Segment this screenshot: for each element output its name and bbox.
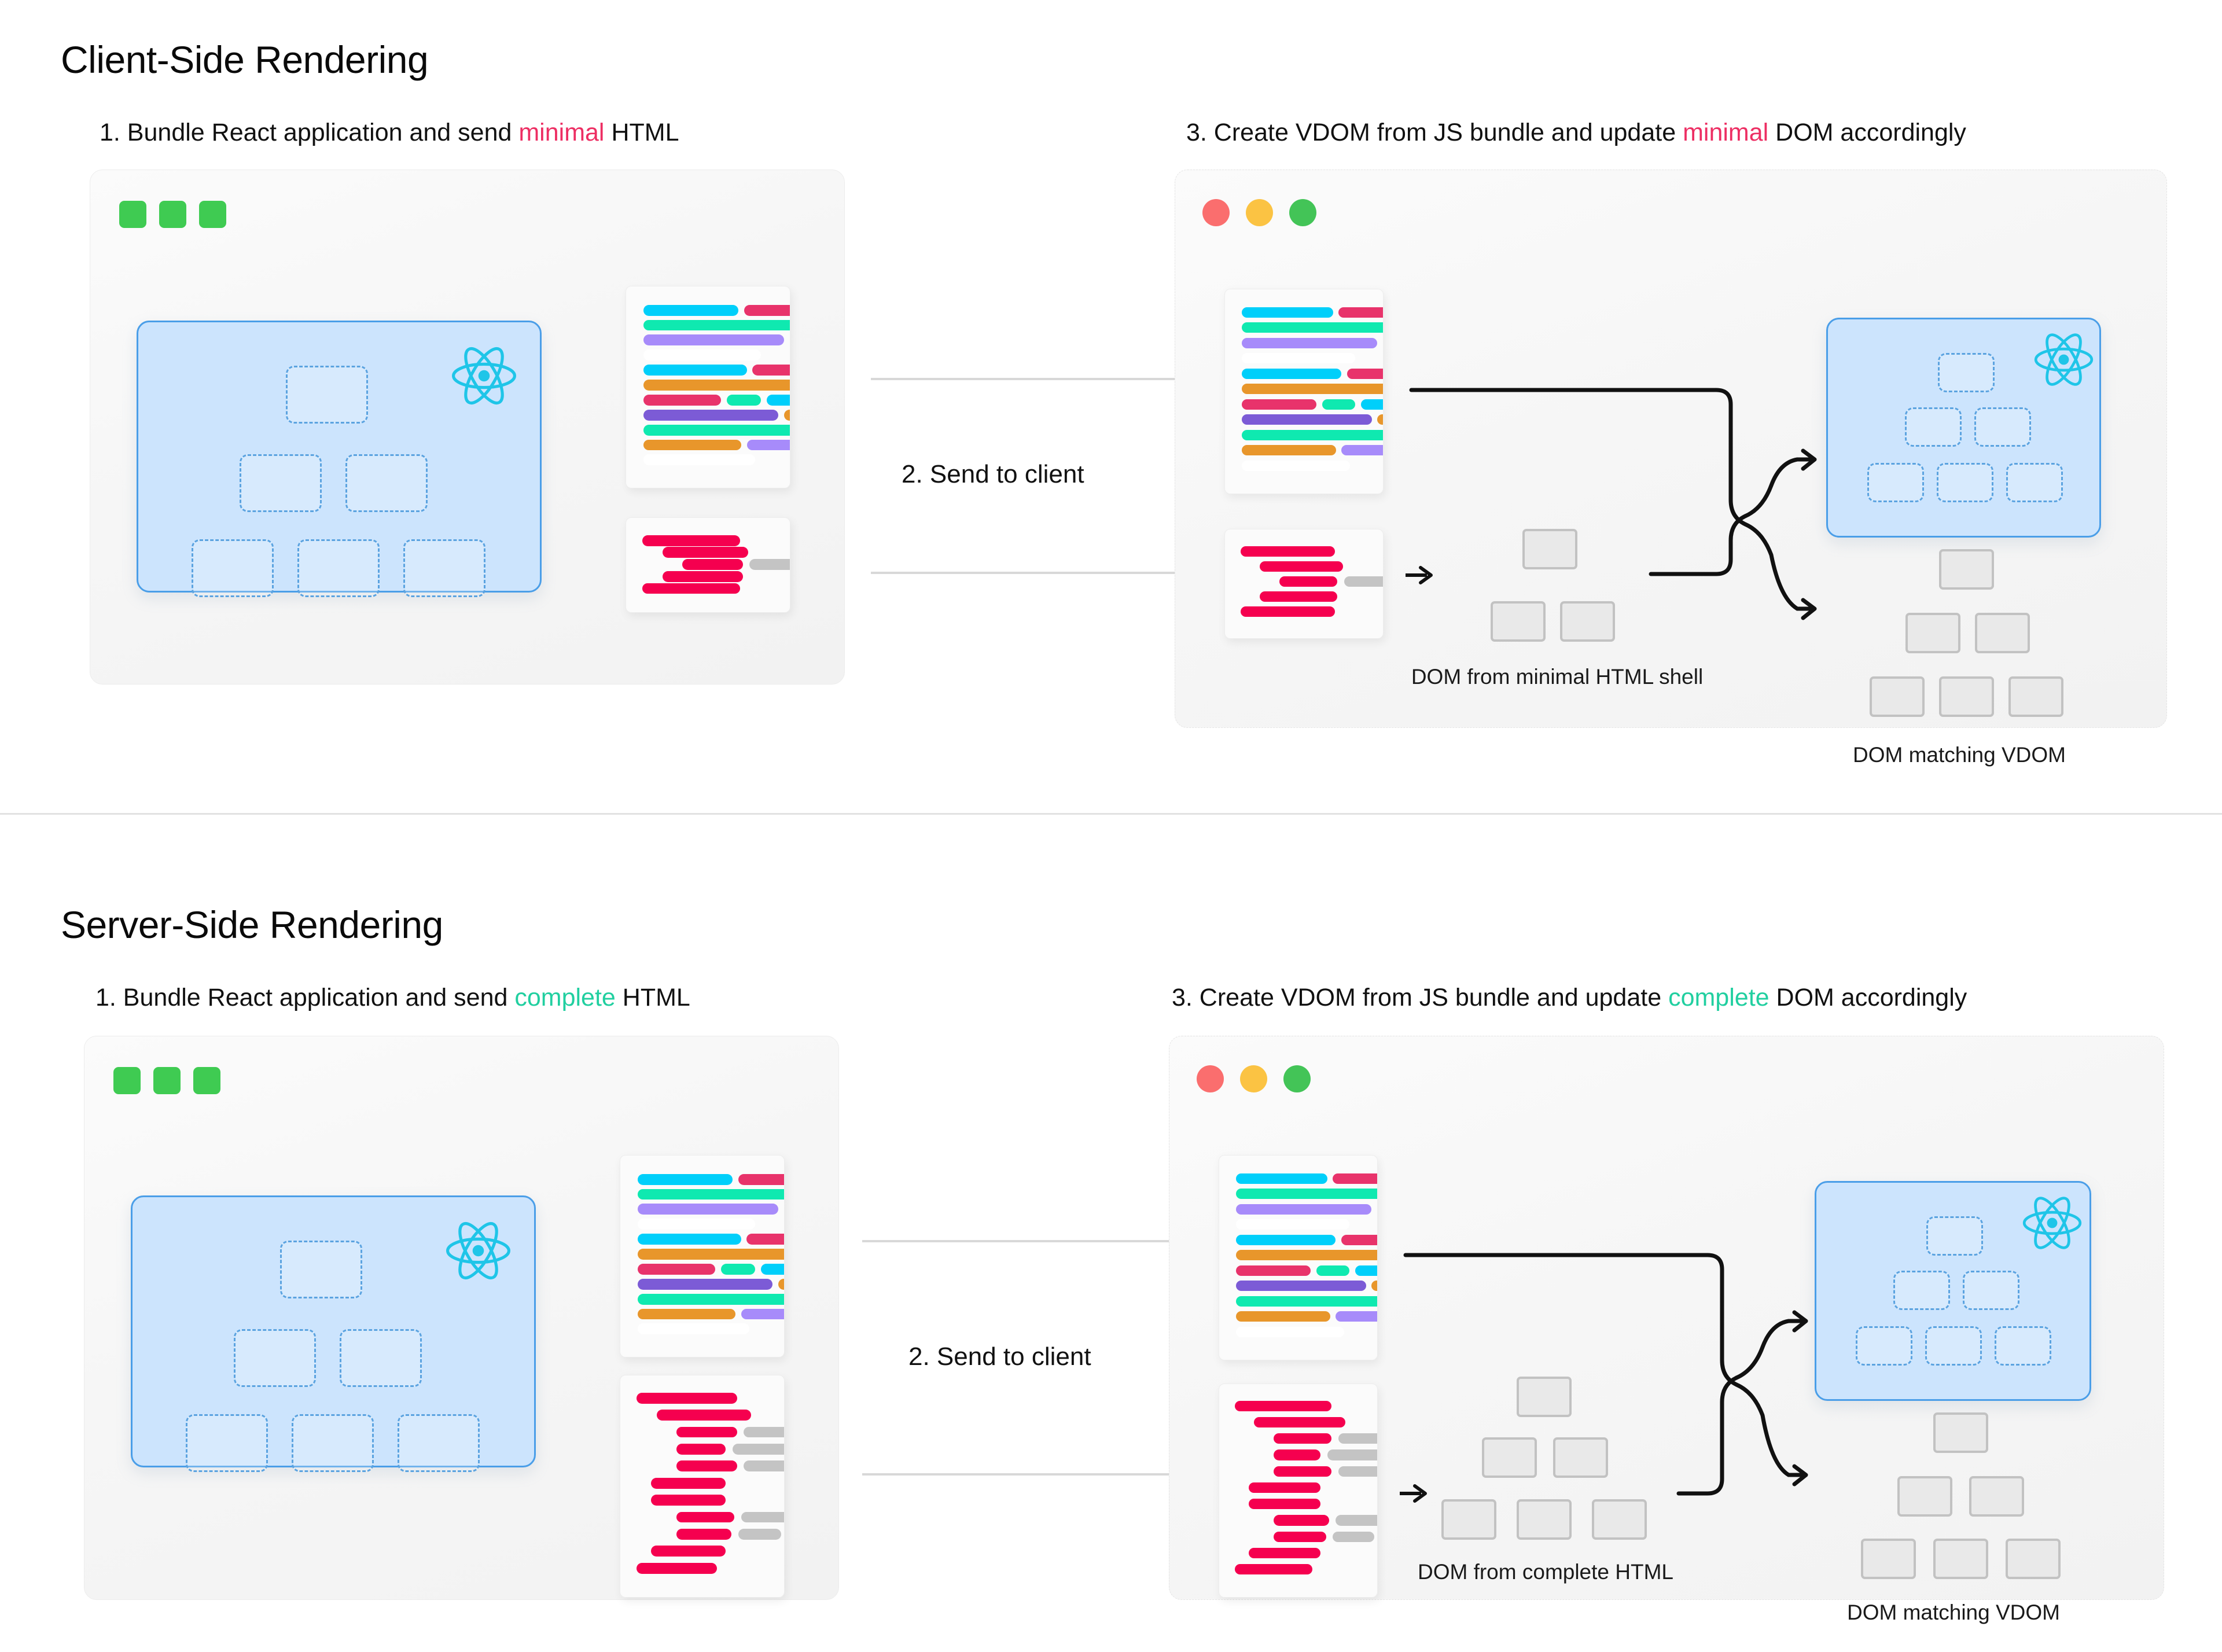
vdom-node-l3-2 — [1925, 1326, 1982, 1366]
code-token — [643, 349, 761, 360]
code-token — [1236, 1235, 1336, 1245]
vdom-node-l2-1 — [1893, 1271, 1950, 1310]
dom-match-l2-2 — [1975, 613, 2030, 653]
code-token — [663, 571, 743, 582]
code-token — [663, 547, 749, 558]
ssr-step3-label: 3. Create VDOM from JS bundle and update… — [1172, 984, 1967, 1012]
code-line — [638, 1219, 756, 1230]
vdom-node-root — [1926, 1216, 1983, 1256]
code-line — [638, 1204, 785, 1215]
code-token — [1236, 1327, 1344, 1337]
code-token — [1241, 546, 1335, 557]
vdom-node-l3-1 — [1867, 463, 1924, 502]
code-token — [638, 1219, 756, 1230]
code-token — [637, 1393, 737, 1404]
code-token — [1242, 338, 1378, 348]
code-line — [1274, 1515, 1378, 1525]
dom-match-l3-3 — [2008, 676, 2063, 717]
csr-step2-label: 2. Send to client — [902, 460, 1084, 489]
code-token — [1242, 307, 1333, 318]
code-line — [1242, 399, 1384, 410]
traffic-light-green — [1283, 1065, 1311, 1092]
code-line — [1260, 591, 1337, 602]
code-line — [638, 1189, 785, 1200]
page-title-ssr: Server-Side Rendering — [61, 903, 443, 947]
code-token — [651, 1495, 726, 1506]
code-line — [638, 1279, 785, 1290]
code-token — [643, 425, 790, 436]
react-logo-icon — [445, 1220, 512, 1281]
vdom-node-l3-3 — [403, 539, 485, 597]
code-token — [1274, 1515, 1329, 1525]
code-token — [643, 454, 756, 465]
dom-node-root — [1522, 529, 1577, 569]
dom-match-l2-2 — [1969, 1476, 2024, 1517]
csr-step1-suffix: HTML — [605, 119, 679, 146]
csr-left-vdom-panel — [137, 321, 542, 593]
dom-node-root — [1517, 1377, 1572, 1417]
code-token — [752, 365, 790, 376]
window-traffic-lights — [1197, 1065, 1311, 1092]
ssr-step3-suffix: DOM accordingly — [1769, 984, 1967, 1011]
csr-right-html-shell-card — [1224, 529, 1384, 639]
dom-node-child-1 — [1491, 601, 1546, 642]
code-line — [1242, 445, 1384, 455]
code-line — [1236, 1173, 1378, 1184]
window-green-squares — [119, 201, 226, 228]
code-token — [643, 440, 741, 451]
ssr-right-browser-window: DOM from complete HTML — [1169, 1036, 2164, 1600]
code-line — [1249, 1482, 1321, 1493]
vdom-node-root — [286, 366, 368, 424]
code-token — [638, 1249, 785, 1260]
code-token — [790, 334, 790, 345]
code-token — [1242, 353, 1355, 363]
code-token — [1338, 307, 1384, 318]
code-token — [1347, 369, 1384, 379]
code-line — [651, 1478, 726, 1489]
vdom-node-l2-1 — [234, 1329, 316, 1387]
code-token — [676, 1460, 737, 1471]
ssr-left-complete-html-card — [620, 1375, 785, 1598]
code-token — [643, 334, 784, 345]
dom-match-l3-1 — [1870, 676, 1925, 717]
code-token — [733, 1444, 785, 1455]
code-token — [784, 1204, 785, 1215]
csr-dom-right-caption: DOM matching VDOM — [1797, 743, 2121, 767]
code-token — [1322, 399, 1355, 410]
vdom-node-l3-3 — [2006, 463, 2063, 502]
code-line — [643, 349, 761, 360]
code-token — [651, 1478, 726, 1489]
code-token — [1249, 1499, 1321, 1509]
code-token — [638, 1294, 785, 1305]
code-token — [1341, 1235, 1378, 1245]
csr-step3-accent: minimal — [1683, 119, 1768, 146]
vdom-node-l3-2 — [297, 539, 380, 597]
code-token — [1383, 338, 1384, 348]
code-token — [1361, 399, 1384, 410]
traffic-light-red — [1197, 1065, 1224, 1092]
code-line — [1274, 1466, 1378, 1477]
code-line — [1241, 546, 1335, 557]
code-line — [643, 410, 790, 421]
code-token — [767, 395, 790, 406]
csr-step1-prefix: 1. Bundle React application and send — [100, 119, 518, 146]
csr-step1-label: 1. Bundle React application and send min… — [100, 119, 679, 147]
ssr-left-vdom-panel — [131, 1195, 536, 1467]
code-token — [738, 1529, 781, 1540]
code-line — [643, 305, 790, 316]
dom-match-l2-1 — [1897, 1476, 1952, 1517]
csr-right-vdom-panel — [1826, 318, 2101, 538]
code-token — [638, 1264, 715, 1275]
code-token — [638, 1174, 733, 1185]
code-token — [744, 305, 790, 316]
ssr-dom-right-caption: DOM matching VDOM — [1791, 1601, 2116, 1625]
ssr-right-vdom-panel — [1815, 1181, 2091, 1401]
code-line — [1236, 1250, 1378, 1260]
code-token — [738, 1174, 785, 1185]
code-line — [1236, 1281, 1378, 1291]
window-square-3 — [199, 201, 226, 228]
code-token — [637, 1563, 717, 1574]
traffic-light-yellow — [1240, 1065, 1267, 1092]
code-line — [651, 1495, 726, 1506]
code-token — [1249, 1482, 1321, 1493]
traffic-light-yellow — [1246, 199, 1273, 226]
code-line — [1249, 1499, 1321, 1509]
react-logo-icon — [2033, 332, 2094, 387]
code-line — [1242, 307, 1384, 318]
code-token — [1236, 1250, 1378, 1260]
code-token — [747, 440, 791, 451]
code-line — [637, 1393, 737, 1404]
code-token — [1274, 1466, 1332, 1477]
ssr-step3-prefix: 3. Create VDOM from JS bundle and update — [1172, 984, 1668, 1011]
dom-node-l2-2 — [1553, 1437, 1608, 1478]
csr-dom-left-caption: DOM from minimal HTML shell — [1389, 665, 1725, 689]
code-token — [643, 395, 721, 406]
code-token — [1242, 322, 1384, 333]
window-traffic-lights — [1202, 199, 1316, 226]
code-line — [1236, 1235, 1378, 1245]
code-token — [643, 320, 790, 331]
code-token — [1336, 1311, 1378, 1322]
code-token — [1327, 1449, 1378, 1460]
code-line — [1242, 430, 1384, 440]
code-line — [1274, 1433, 1378, 1444]
code-token — [638, 1309, 735, 1320]
code-line — [1236, 1219, 1349, 1230]
code-line — [643, 395, 790, 406]
code-line — [638, 1264, 785, 1275]
code-line — [643, 380, 790, 391]
code-token — [1236, 1265, 1311, 1276]
code-token — [761, 1264, 785, 1275]
vdom-node-l3-2 — [292, 1414, 374, 1472]
csr-left-html-shell-card — [626, 517, 790, 613]
code-line — [638, 1249, 785, 1260]
code-token — [1274, 1433, 1332, 1444]
code-token — [1242, 430, 1384, 440]
code-line — [1254, 1417, 1345, 1427]
code-token — [778, 1279, 785, 1290]
ssr-left-js-bundle-card — [620, 1155, 785, 1357]
dom-node-child-2 — [1560, 601, 1615, 642]
window-square-1 — [119, 201, 146, 228]
code-line — [1236, 1311, 1378, 1322]
code-token — [1333, 1532, 1374, 1542]
code-token — [638, 1189, 785, 1200]
dom-match-root — [1933, 1412, 1988, 1453]
ssr-step3-accent: complete — [1668, 984, 1769, 1011]
ssr-step1-label: 1. Bundle React application and send com… — [95, 984, 690, 1012]
code-line — [663, 547, 749, 558]
vdom-node-l2-1 — [240, 454, 322, 512]
code-token — [749, 559, 790, 570]
code-line — [1235, 1564, 1312, 1574]
ssr-right-complete-html-card — [1219, 1384, 1378, 1598]
csr-left-browser-window — [90, 170, 845, 685]
code-token — [1341, 445, 1384, 455]
csr-step3-prefix: 3. Create VDOM from JS bundle and update — [1186, 119, 1683, 146]
code-line — [643, 320, 790, 331]
code-token — [1235, 1401, 1332, 1411]
code-line — [643, 425, 790, 436]
code-token — [642, 583, 740, 594]
ssr-step2-label: 2. Send to client — [908, 1342, 1091, 1371]
code-token — [638, 1279, 772, 1290]
code-token — [1254, 1417, 1345, 1427]
code-line — [1242, 369, 1384, 379]
vdom-node-l2-2 — [1974, 407, 2031, 447]
window-square-2 — [153, 1067, 181, 1094]
csr-step3-suffix: DOM accordingly — [1768, 119, 1966, 146]
react-logo-icon — [2022, 1195, 2083, 1250]
code-line — [1242, 338, 1384, 348]
code-token — [1274, 1532, 1326, 1542]
dom-match-l3-1 — [1861, 1539, 1916, 1579]
code-token — [746, 1234, 785, 1245]
code-token — [727, 395, 761, 406]
code-line — [642, 535, 740, 546]
vdom-node-l3-3 — [398, 1414, 480, 1472]
code-token — [784, 410, 790, 421]
code-token — [643, 410, 778, 421]
code-line — [1249, 1548, 1321, 1558]
vdom-node-l2-2 — [345, 454, 428, 512]
vdom-node-l3-2 — [1937, 463, 1993, 502]
code-token — [1333, 1173, 1378, 1184]
code-token — [1377, 1204, 1378, 1215]
code-token — [1260, 561, 1343, 572]
code-token — [1242, 384, 1384, 394]
code-line — [1242, 384, 1384, 394]
vdom-node-l3-1 — [186, 1414, 268, 1472]
code-token — [676, 1512, 734, 1523]
code-token — [643, 305, 738, 316]
code-token — [682, 559, 742, 570]
code-token — [744, 1460, 785, 1471]
code-token — [638, 1234, 741, 1245]
csr-right-browser-window: DOM from minimal HTML shell — [1175, 170, 2167, 728]
code-token — [638, 1204, 778, 1215]
code-token — [721, 1264, 756, 1275]
code-token — [1242, 414, 1372, 425]
code-line — [1274, 1532, 1378, 1542]
code-token — [1242, 369, 1341, 379]
code-line — [1236, 1265, 1378, 1276]
code-token — [651, 1546, 726, 1557]
code-line — [682, 559, 790, 570]
code-token — [638, 1323, 750, 1334]
window-square-2 — [159, 201, 186, 228]
code-line — [1236, 1327, 1344, 1337]
code-line — [1242, 353, 1355, 363]
vdom-node-root — [280, 1241, 362, 1298]
code-token — [1371, 1281, 1378, 1291]
section-divider — [0, 813, 2222, 815]
dom-match-l3-2 — [1933, 1539, 1988, 1579]
code-line — [1279, 576, 1384, 587]
code-line — [643, 365, 790, 376]
dom-match-l3-2 — [1939, 676, 1994, 717]
code-token — [1242, 461, 1350, 471]
code-line — [663, 571, 743, 582]
csr-left-js-bundle-card — [626, 286, 790, 488]
vdom-node-l2-2 — [1963, 1271, 2019, 1310]
code-line — [638, 1294, 785, 1305]
code-line — [638, 1323, 750, 1334]
code-line — [643, 440, 790, 451]
code-token — [1242, 445, 1336, 455]
code-token — [1236, 1296, 1378, 1307]
code-line — [1242, 322, 1384, 333]
code-line — [638, 1309, 785, 1320]
code-token — [741, 1512, 785, 1523]
code-token — [643, 365, 747, 376]
code-line — [1242, 461, 1350, 471]
window-green-squares — [113, 1067, 220, 1094]
dom-node-l3-3 — [1592, 1499, 1647, 1540]
vdom-node-l3-1 — [192, 539, 274, 597]
code-token — [1344, 576, 1384, 587]
code-line — [643, 334, 790, 345]
vdom-node-l2-1 — [1905, 407, 1962, 447]
code-line — [1235, 1401, 1332, 1411]
dom-match-l3-3 — [2006, 1539, 2061, 1579]
code-token — [1338, 1433, 1378, 1444]
code-token — [1260, 591, 1337, 602]
react-logo-icon — [451, 345, 517, 406]
ssr-left-browser-window — [84, 1036, 839, 1600]
code-token — [657, 1410, 752, 1421]
code-line — [676, 1444, 785, 1455]
vdom-node-l2-2 — [340, 1329, 422, 1387]
csr-step3-label: 3. Create VDOM from JS bundle and update… — [1186, 119, 1966, 147]
code-token — [1338, 1466, 1378, 1477]
dom-node-l3-2 — [1517, 1499, 1572, 1540]
diagram-root: Client-Side Rendering 1. Bundle React ap… — [0, 0, 2222, 1652]
code-token — [1236, 1219, 1349, 1230]
code-line — [676, 1460, 785, 1471]
code-token — [676, 1444, 725, 1455]
code-token — [741, 1309, 785, 1320]
code-line — [642, 583, 740, 594]
code-token — [676, 1427, 737, 1438]
code-line — [643, 454, 756, 465]
code-token — [1236, 1189, 1378, 1199]
page-title-csr: Client-Side Rendering — [61, 38, 428, 82]
code-line — [638, 1174, 785, 1185]
csr-step1-accent: minimal — [518, 119, 604, 146]
dom-match-l2-1 — [1905, 613, 1960, 653]
code-token — [1236, 1311, 1330, 1322]
code-token — [1242, 399, 1316, 410]
code-token — [1279, 576, 1338, 587]
code-token — [1274, 1449, 1320, 1460]
code-token — [1336, 1515, 1378, 1525]
code-token — [642, 535, 740, 546]
code-line — [651, 1546, 726, 1557]
code-line — [1241, 606, 1335, 617]
csr-right-js-bundle-card — [1224, 289, 1384, 494]
code-line — [657, 1410, 752, 1421]
ssr-step1-suffix: HTML — [616, 984, 690, 1011]
code-token — [1236, 1173, 1327, 1184]
code-token — [1236, 1281, 1366, 1291]
code-token — [1241, 606, 1335, 617]
code-line — [1236, 1189, 1378, 1199]
ssr-step1-accent: complete — [514, 984, 615, 1011]
code-token — [1355, 1265, 1378, 1276]
code-line — [638, 1234, 785, 1245]
dom-node-l2-1 — [1482, 1437, 1537, 1478]
code-token — [1316, 1265, 1349, 1276]
code-line — [1242, 414, 1384, 425]
code-token — [676, 1529, 731, 1540]
vdom-node-root — [1938, 353, 1995, 392]
code-token — [1377, 414, 1384, 425]
ssr-step1-prefix: 1. Bundle React application and send — [95, 984, 514, 1011]
traffic-light-green — [1289, 199, 1316, 226]
code-token — [643, 380, 790, 391]
code-line — [676, 1529, 785, 1540]
code-line — [676, 1512, 785, 1523]
window-square-3 — [193, 1067, 220, 1094]
code-token — [1249, 1548, 1321, 1558]
code-token — [744, 1427, 785, 1438]
dom-node-l3-1 — [1441, 1499, 1496, 1540]
window-square-1 — [113, 1067, 141, 1094]
ssr-right-js-bundle-card — [1219, 1155, 1378, 1360]
code-line — [1260, 561, 1343, 572]
traffic-light-red — [1202, 199, 1230, 226]
code-line — [1236, 1204, 1378, 1215]
vdom-node-l3-3 — [1995, 1326, 2051, 1366]
dom-match-root — [1939, 549, 1994, 590]
code-line — [1274, 1449, 1378, 1460]
code-token — [1236, 1204, 1372, 1215]
code-line — [637, 1563, 717, 1574]
code-line — [1236, 1296, 1378, 1307]
ssr-dom-left-caption: DOM from complete HTML — [1389, 1560, 1702, 1584]
vdom-node-l3-1 — [1856, 1326, 1912, 1366]
code-token — [1235, 1564, 1312, 1574]
code-line — [676, 1427, 785, 1438]
